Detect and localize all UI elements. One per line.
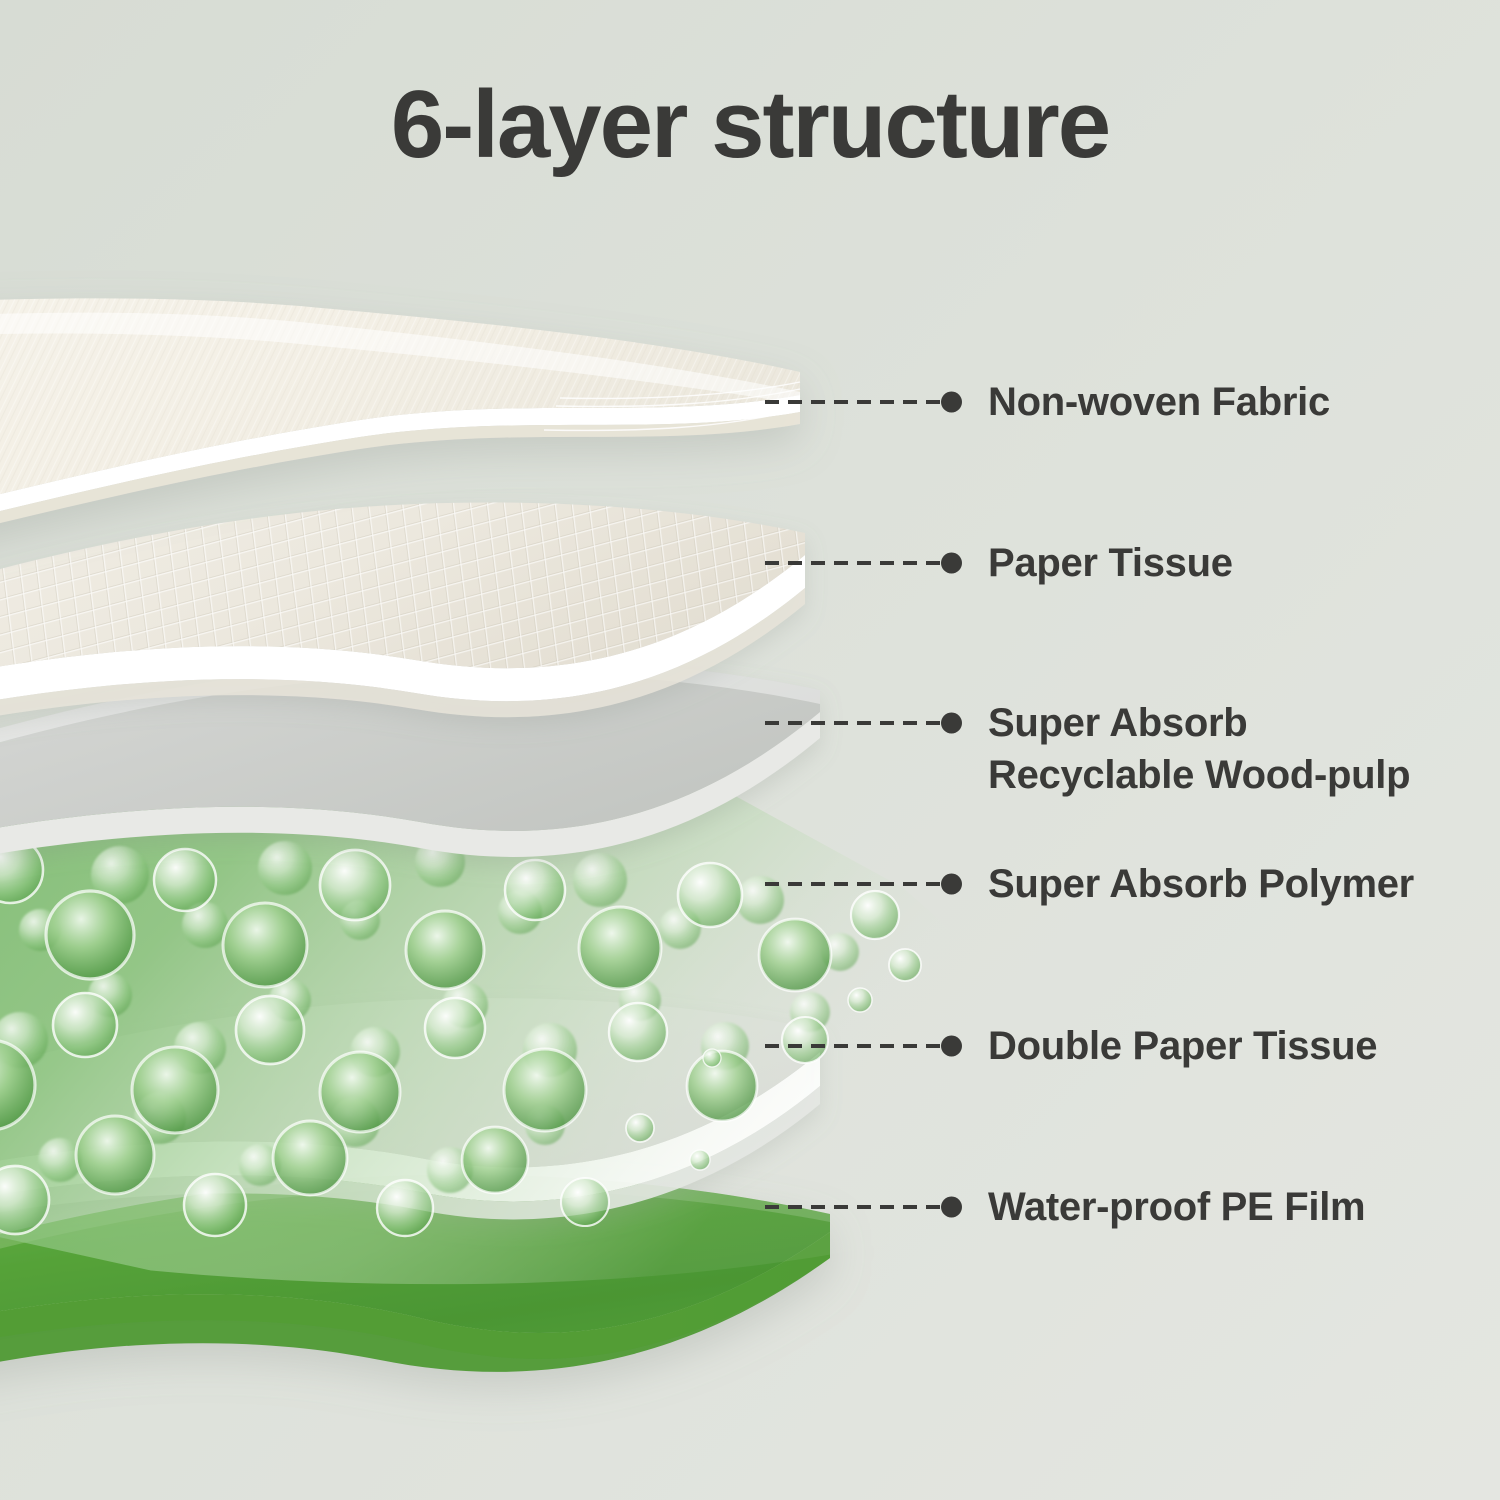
callout-label-water-proof-pe-film: Water-proof PE Film — [988, 1181, 1365, 1233]
callout-label-line1: Super Absorb — [988, 701, 1247, 745]
page-title: 6-layer structure — [0, 72, 1500, 178]
callout-dot-paper-tissue — [941, 553, 962, 574]
leader-line-non-woven-fabric — [765, 400, 945, 404]
leader-line-paper-tissue — [765, 561, 945, 565]
leader-line-super-absorb-polymer — [765, 882, 945, 886]
callout-dot-water-proof-pe-film — [941, 1197, 962, 1218]
callout-dot-double-paper-tissue — [941, 1036, 962, 1057]
leader-line-double-paper-tissue — [765, 1044, 945, 1048]
leader-line-water-proof-pe-film — [765, 1205, 945, 1209]
callout-dot-super-absorb-polymer — [941, 874, 962, 895]
callout-dot-non-woven-fabric — [941, 392, 962, 413]
callout-label-line2: Recyclable Wood-pulp — [988, 749, 1410, 801]
callout-label-non-woven-fabric: Non-woven Fabric — [988, 376, 1330, 428]
leader-line-super-absorb-recyclable-wood-pulp — [765, 721, 945, 725]
callout-label-super-absorb-recyclable-wood-pulp: Super Absorb Recyclable Wood-pulp — [988, 697, 1410, 801]
callout-label-double-paper-tissue: Double Paper Tissue — [988, 1020, 1377, 1072]
callout-label-super-absorb-polymer: Super Absorb Polymer — [988, 858, 1414, 910]
callout-dot-super-absorb-recyclable-wood-pulp — [941, 713, 962, 734]
infographic-canvas: 6-layer structure Non-woven Fabric Paper… — [0, 0, 1500, 1500]
callout-label-paper-tissue: Paper Tissue — [988, 537, 1233, 589]
